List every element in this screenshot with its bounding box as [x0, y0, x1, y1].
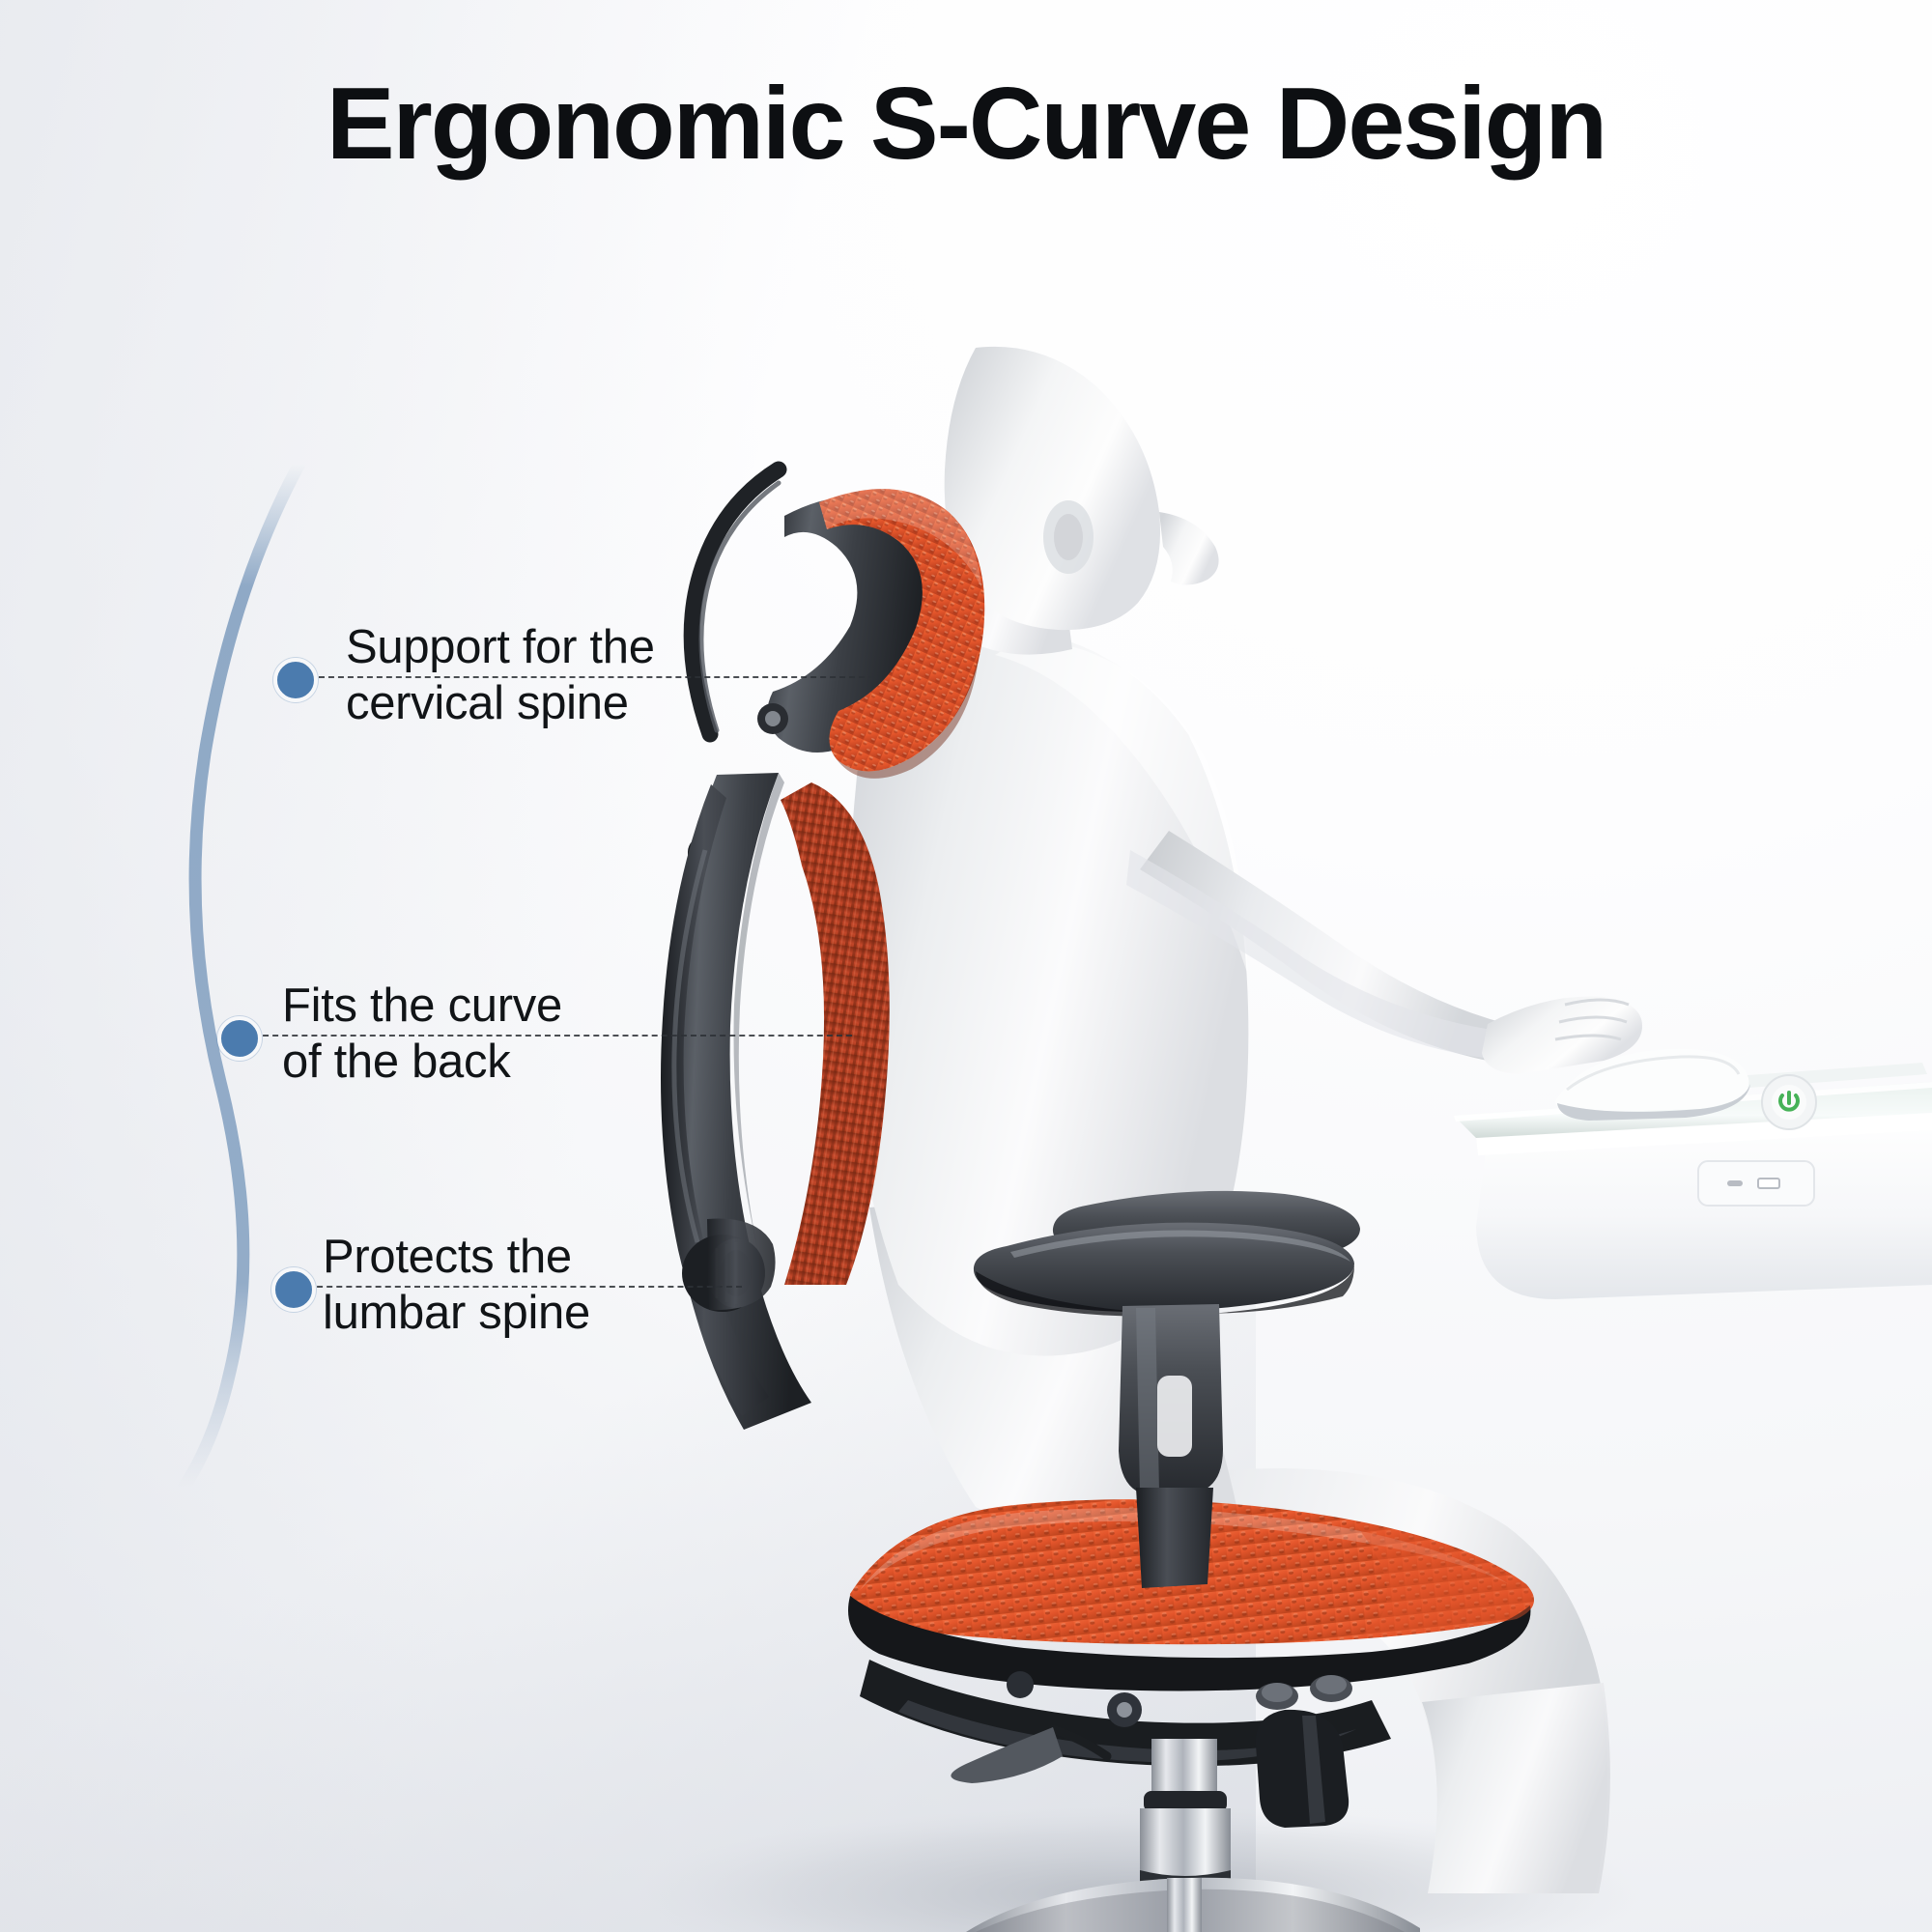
callout-group: Support for the cervical spine Fits the …: [0, 0, 1932, 1932]
callout-lumbar-line2: lumbar spine: [323, 1286, 590, 1341]
product-feature-image: Ergonomic S-Curve Design: [0, 0, 1932, 1932]
callout-lumbar-line1: Protects the: [323, 1230, 572, 1285]
callout-cervical-line1: Support for the: [346, 620, 655, 675]
callout-marker-cervical: [273, 658, 318, 702]
callout-marker-back: [217, 1016, 262, 1061]
callout-marker-lumbar: [271, 1267, 316, 1312]
callout-back-line1: Fits the curve: [282, 979, 562, 1034]
callout-back-line2: of the back: [282, 1035, 510, 1090]
callout-cervical-line2: cervical spine: [346, 676, 629, 731]
